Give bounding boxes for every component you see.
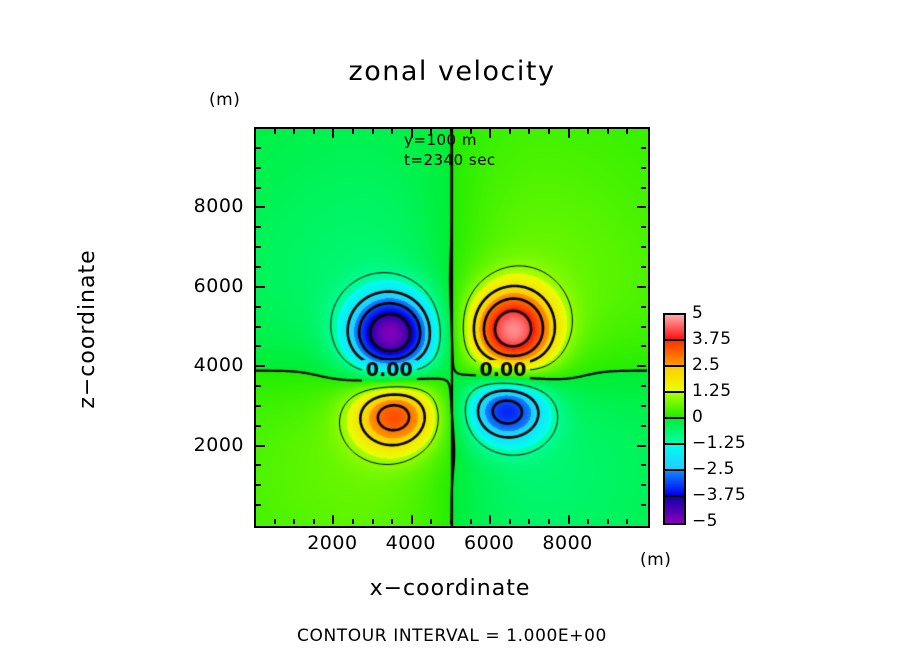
- x-axis-tick: [352, 129, 354, 134]
- x-axis-tick: [509, 129, 511, 134]
- x-axis-tick: [274, 519, 276, 524]
- contour-field: [256, 129, 648, 526]
- x-axis-tick: [450, 519, 452, 524]
- x-axis-tick: [626, 129, 628, 134]
- x-axis-tick: [332, 515, 334, 524]
- y-axis-tick: [641, 147, 646, 149]
- x-axis-tick-label: 2000: [307, 532, 357, 554]
- y-axis-tick: [256, 187, 261, 189]
- y-axis-tick: [641, 226, 646, 228]
- x-axis-tick: [293, 129, 295, 134]
- contour-interval-caption: CONTOUR INTERVAL = 1.000E+00: [0, 628, 904, 645]
- y-axis-tick: [641, 306, 646, 308]
- x-axis-tick: [430, 519, 432, 524]
- x-axis-tick: [587, 129, 589, 134]
- colorbar-band: [665, 367, 684, 393]
- y-axis-tick: [256, 206, 265, 208]
- y-axis-tick: [637, 286, 646, 288]
- x-axis-tick: [430, 129, 432, 134]
- contour-plot-area: [254, 127, 650, 528]
- x-axis-tick: [607, 519, 609, 524]
- x-axis-tick: [332, 129, 334, 138]
- y-axis-tick: [641, 504, 646, 506]
- colorbar-band: [665, 419, 684, 445]
- y-axis-tick-label: 4000: [176, 354, 244, 376]
- y-axis-tick: [641, 266, 646, 268]
- x-axis-tick: [587, 519, 589, 524]
- y-axis-tick: [256, 484, 261, 486]
- y-axis-tick: [256, 246, 261, 248]
- x-axis-tick: [274, 129, 276, 134]
- y-axis-tick: [256, 385, 261, 387]
- y-axis-tick: [256, 167, 261, 169]
- x-axis-tick: [548, 519, 550, 524]
- x-axis-tick: [470, 519, 472, 524]
- colorbar-band: [665, 315, 684, 341]
- colorbar-tick-label: −3.75: [692, 485, 746, 505]
- y-axis-tick: [641, 405, 646, 407]
- x-axis-tick: [450, 129, 452, 134]
- y-axis-tick: [641, 484, 646, 486]
- y-axis-tick: [256, 286, 265, 288]
- y-axis-tick: [256, 464, 261, 466]
- x-axis-tick-label: 6000: [464, 532, 514, 554]
- y-axis-tick: [641, 187, 646, 189]
- x-axis-tick: [568, 129, 570, 138]
- colorbar-band: [665, 341, 684, 367]
- figure-canvas: zonal velocity (m) (m) z−coordinate x−co…: [0, 0, 904, 654]
- y-axis-tick: [256, 266, 261, 268]
- page-title: zonal velocity: [0, 58, 904, 85]
- colorbar-band: [665, 471, 684, 497]
- y-axis-tick: [637, 445, 646, 447]
- x-axis-tick: [528, 129, 530, 134]
- x-axis-tick-label: 8000: [542, 532, 592, 554]
- x-axis-tick: [411, 515, 413, 524]
- colorbar-tick-label: 1.25: [692, 381, 731, 401]
- x-axis-tick: [293, 519, 295, 524]
- x-axis-tick: [313, 129, 315, 134]
- y-axis-tick: [641, 246, 646, 248]
- y-axis-tick: [641, 345, 646, 347]
- y-axis-tick: [641, 326, 646, 328]
- x-axis-tick: [313, 519, 315, 524]
- colorbar: [663, 313, 686, 525]
- colorbar-band: [665, 497, 684, 523]
- y-axis-tick: [256, 365, 265, 367]
- x-axis-tick: [489, 129, 491, 138]
- x-axis-tick: [372, 519, 374, 524]
- y-axis-tick: [641, 167, 646, 169]
- colorbar-band: [665, 393, 684, 419]
- x-axis-tick-label: 4000: [386, 532, 436, 554]
- x-axis-tick: [372, 129, 374, 134]
- y-axis-title: z−coordinate: [77, 189, 99, 469]
- y-axis-tick: [637, 365, 646, 367]
- x-axis-tick: [607, 129, 609, 134]
- y-axis-tick: [637, 206, 646, 208]
- y-axis-tick: [256, 306, 261, 308]
- y-axis-unit-label: (m): [209, 92, 240, 109]
- x-axis-title: x−coordinate: [254, 578, 646, 600]
- colorbar-tick-label: 5: [692, 303, 703, 323]
- colorbar-tick-label: −5: [692, 511, 718, 531]
- y-axis-tick: [641, 425, 646, 427]
- y-axis-tick: [256, 345, 261, 347]
- x-axis-unit-label: (m): [640, 552, 671, 569]
- y-axis-tick: [256, 405, 261, 407]
- y-axis-tick-label: 8000: [176, 195, 244, 217]
- x-axis-tick: [548, 129, 550, 134]
- y-axis-tick: [256, 445, 265, 447]
- colorbar-tick-label: 3.75: [692, 329, 731, 349]
- colorbar-tick-label: 2.5: [692, 355, 720, 375]
- x-axis-tick: [391, 129, 393, 134]
- y-axis-tick: [641, 385, 646, 387]
- x-axis-tick: [411, 129, 413, 138]
- y-axis-tick: [256, 226, 261, 228]
- y-axis-tick-label: 6000: [176, 275, 244, 297]
- x-axis-tick: [626, 519, 628, 524]
- y-axis-tick: [256, 425, 261, 427]
- colorbar-tick-label: 0: [692, 407, 703, 427]
- colorbar-tick-label: −2.5: [692, 459, 735, 479]
- x-axis-tick: [509, 519, 511, 524]
- y-axis-tick-label: 2000: [176, 434, 244, 456]
- y-axis-tick: [256, 147, 261, 149]
- y-axis-tick: [641, 464, 646, 466]
- x-axis-tick: [568, 515, 570, 524]
- x-axis-tick: [470, 129, 472, 134]
- y-axis-tick: [256, 504, 261, 506]
- plot-title-text: zonal velocity: [349, 58, 556, 85]
- x-axis-tick: [489, 515, 491, 524]
- annotation-time: t=2340 sec: [404, 150, 496, 170]
- colorbar-tick-label: −1.25: [692, 433, 746, 453]
- x-axis-tick: [391, 519, 393, 524]
- x-axis-tick: [352, 519, 354, 524]
- x-axis-tick: [528, 519, 530, 524]
- colorbar-band: [665, 445, 684, 471]
- y-axis-tick: [256, 326, 261, 328]
- plot-annotation-block: y=100 m t=2340 sec: [404, 130, 496, 171]
